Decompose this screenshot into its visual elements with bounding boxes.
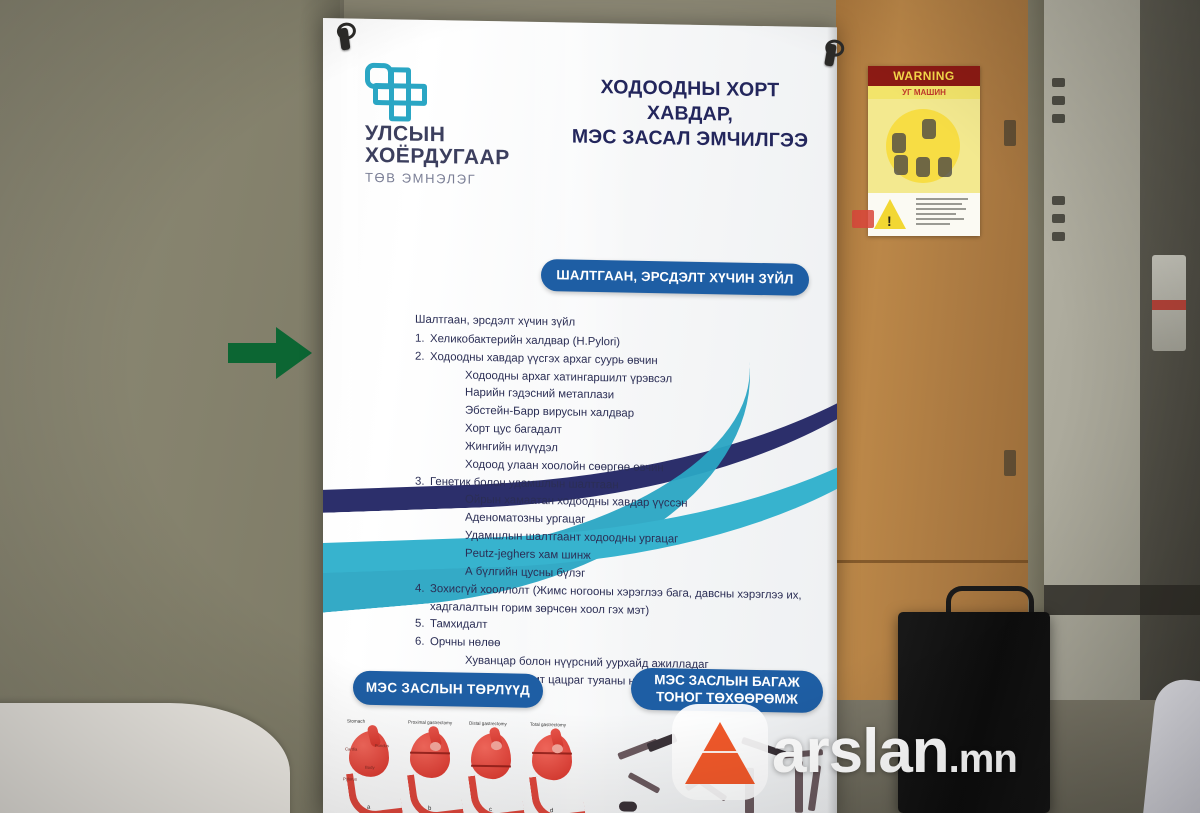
banner-clip-left (339, 27, 351, 50)
warning-triangle-icon (874, 199, 906, 229)
stomach-part-label: Pylorus (343, 776, 357, 781)
stomach-part-label: Cardia (345, 746, 357, 751)
risk-list-item-number: 2. (415, 348, 430, 366)
logo-line2: ХОЁРДУГААР (365, 145, 565, 170)
risk-list-item-number: 3. (415, 473, 430, 491)
stomach-duodenum (468, 770, 525, 813)
door-hinge-icon (1004, 120, 1016, 146)
warning-poster: WARNING УГ МАШИН (868, 66, 980, 236)
risk-list-item-text: Зохисгүй хооллолт (Жимс ногооны хэрэглээ… (430, 581, 815, 624)
stomach-diagram-letter: d (550, 808, 553, 813)
resection-marker (430, 742, 441, 751)
warning-poster-illustration (868, 99, 980, 193)
risk-list-item-number: 5. (415, 616, 430, 634)
stomach-diagram-caption: Proximal gastrectomy (408, 720, 452, 726)
instruments-badge: МЭС ЗАСЛЫН БАГАЖ ТОНОГ ТӨХӨӨРӨМЖ (631, 668, 823, 714)
stomach-diagram: Total gastrectomyd (526, 722, 581, 813)
banner-title-line2: МЭС ЗАСАЛ ЭМЧИЛГЭЭ (559, 124, 821, 154)
baseboard (1044, 585, 1200, 615)
wall-dot-icon (1052, 196, 1065, 205)
banner-title: ХОДООДНЫ ХОРТ ХАВДАР, МЭС ЗАСАЛ ЭМЧИЛГЭЭ (559, 74, 821, 154)
stomach-diagram-caption: Stomach (347, 718, 365, 723)
warning-poster-subheading: УГ МАШИН (868, 86, 980, 99)
stomach-diagram-caption: Total gastrectomy (530, 722, 566, 728)
risk-list-item-number: 4. (415, 580, 430, 616)
wall-dot-icon (1052, 114, 1065, 123)
photo-scene: WARNING УГ МАШИН (0, 0, 1200, 813)
medical-cross-icon (371, 65, 427, 122)
stomach-diagram: StomachCardiaFundusBodyPylorusa (343, 718, 398, 813)
left-wall (0, 0, 340, 813)
desk-corner (0, 703, 290, 813)
stomach-diagram-letter: a (367, 805, 370, 811)
stomach-duodenum (346, 768, 403, 813)
risk-list-item-number: 1. (415, 331, 430, 349)
warning-poster-heading: WARNING (868, 66, 980, 86)
risk-factor-list: Шалтгаан, эрсдэлт хүчин зүйл 1.Хеликобак… (415, 312, 815, 695)
door-hinge-icon (1004, 450, 1016, 476)
stomach-diagram-letter: b (428, 806, 431, 812)
wall-dot-icon (1052, 96, 1065, 105)
equipment-case (898, 612, 1050, 813)
stomach-diagram-caption: Distal gastrectomy (469, 721, 507, 727)
instruments-badge-line2: ТОНОГ ТӨХӨӨРӨМЖ (656, 689, 798, 708)
warning-poster-footer (868, 193, 980, 236)
stomach-diagram: Distal gastrectomyc (465, 721, 520, 813)
risk-section-badge: ШАЛТГААН, ЭРСДЭЛТ ХҮЧИН ЗҮЙЛ (541, 259, 809, 296)
stomach-part-label: Fundus (375, 743, 389, 748)
wall-dot-icon (1052, 232, 1065, 241)
stomach-duodenum (529, 771, 586, 813)
resection-marker (552, 744, 563, 753)
stomach-duodenum (407, 769, 464, 813)
roll-up-banner: УЛСЫН ХОЁРДУГААР ТӨВ ЭМНЭЛЭГ ХОДООДНЫ ХО… (323, 18, 837, 813)
stomach-diagram-letter: c (489, 807, 492, 813)
wall-dot-icon (1052, 214, 1065, 223)
hospital-logo: УЛСЫН ХОЁРДУГААР ТӨВ ЭМНЭЛЭГ (365, 65, 565, 188)
risk-list-item-text: Генетик болон удамшлын шалтгаан (430, 474, 619, 495)
surgical-instruments-photos (613, 717, 828, 813)
risk-list-item-text: Орчны нөлөө (430, 634, 500, 653)
stomach-part-label: Body (365, 765, 375, 770)
risk-list-item-number: 6. (415, 634, 430, 652)
green-arrow-icon (228, 327, 312, 379)
stomach-diagram: Proximal gastrectomyb (404, 719, 459, 813)
resection-marker (491, 741, 502, 750)
risk-list-item-text: Тамхидалт (430, 616, 488, 635)
surgery-types-badge: МЭС ЗАСЛЫН ТӨРЛҮҮД (353, 671, 543, 708)
red-sticker (852, 210, 874, 228)
wall-dot-icon (1052, 78, 1065, 87)
banner-title-line1: ХОДООДНЫ ХОРТ ХАВДАР, (559, 74, 821, 129)
stomach-diagram-row: StomachCardiaFundusBodyPylorusaProximal … (343, 718, 583, 813)
wall-panel-red-stripe (1152, 300, 1186, 310)
